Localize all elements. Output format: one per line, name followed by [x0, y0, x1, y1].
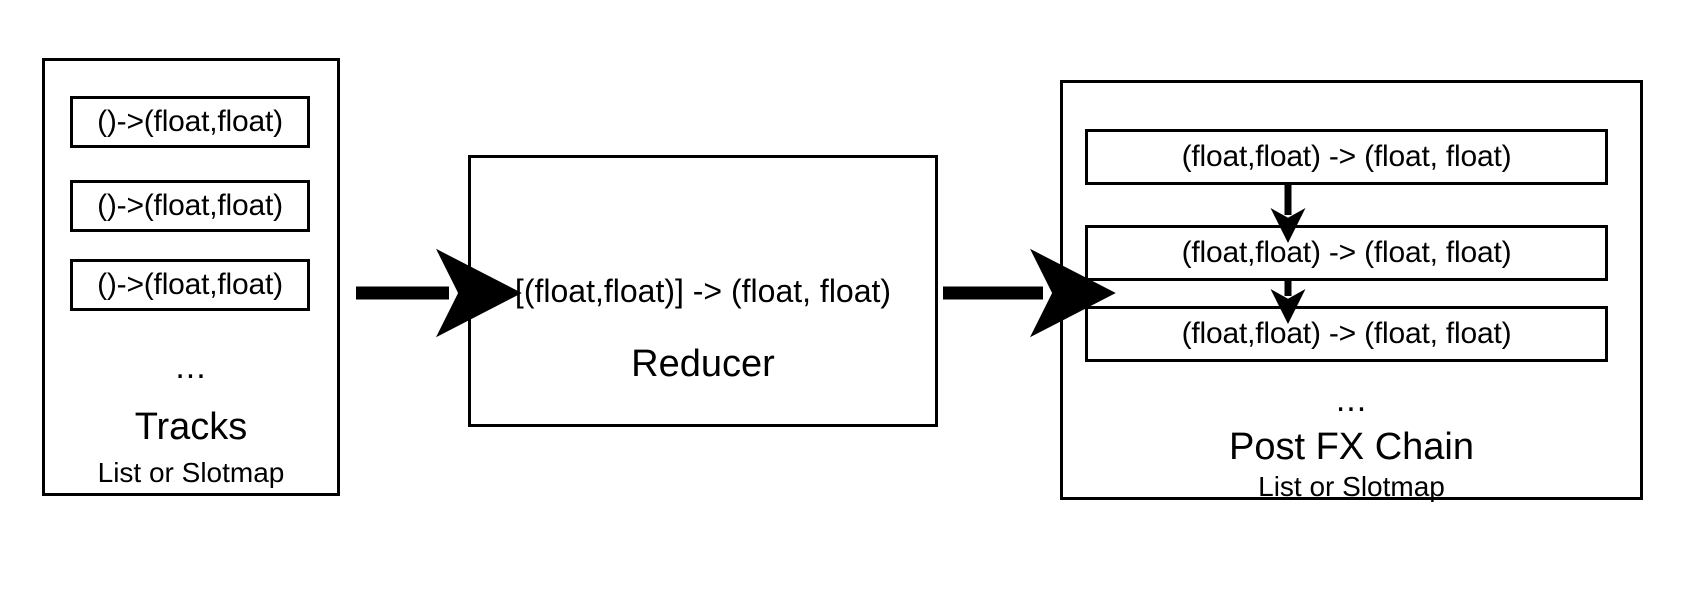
postfx-item-3-signature: (float,float) -> (float, float): [1182, 319, 1512, 349]
tracks-subtitle: List or Slotmap: [42, 459, 340, 487]
postfx-item-2-signature: (float,float) -> (float, float): [1182, 238, 1512, 268]
postfx-subtitle: List or Slotmap: [1060, 473, 1643, 501]
reducer-title: Reducer: [468, 345, 938, 383]
tracks-title: Tracks: [42, 408, 340, 446]
track-item-2[interactable]: ()->(float,float): [70, 180, 310, 232]
postfx-item-2[interactable]: (float,float) -> (float, float): [1085, 225, 1608, 281]
postfx-item-1-signature: (float,float) -> (float, float): [1182, 142, 1512, 172]
track-item-1[interactable]: ()->(float,float): [70, 96, 310, 148]
tracks-ellipsis: ...: [42, 350, 340, 384]
track-item-1-signature: ()->(float,float): [97, 107, 283, 137]
track-item-2-signature: ()->(float,float): [97, 191, 283, 221]
reducer-signature: [(float,float)] -> (float, float): [468, 275, 938, 307]
diagram-canvas: ()->(float,float) ()->(float,float) ()->…: [0, 0, 1694, 600]
postfx-item-1[interactable]: (float,float) -> (float, float): [1085, 129, 1608, 185]
track-item-3-signature: ()->(float,float): [97, 270, 283, 300]
track-item-3[interactable]: ()->(float,float): [70, 259, 310, 311]
postfx-title: Post FX Chain: [1060, 428, 1643, 466]
postfx-item-3[interactable]: (float,float) -> (float, float): [1085, 306, 1608, 362]
postfx-ellipsis: ...: [1060, 383, 1643, 417]
